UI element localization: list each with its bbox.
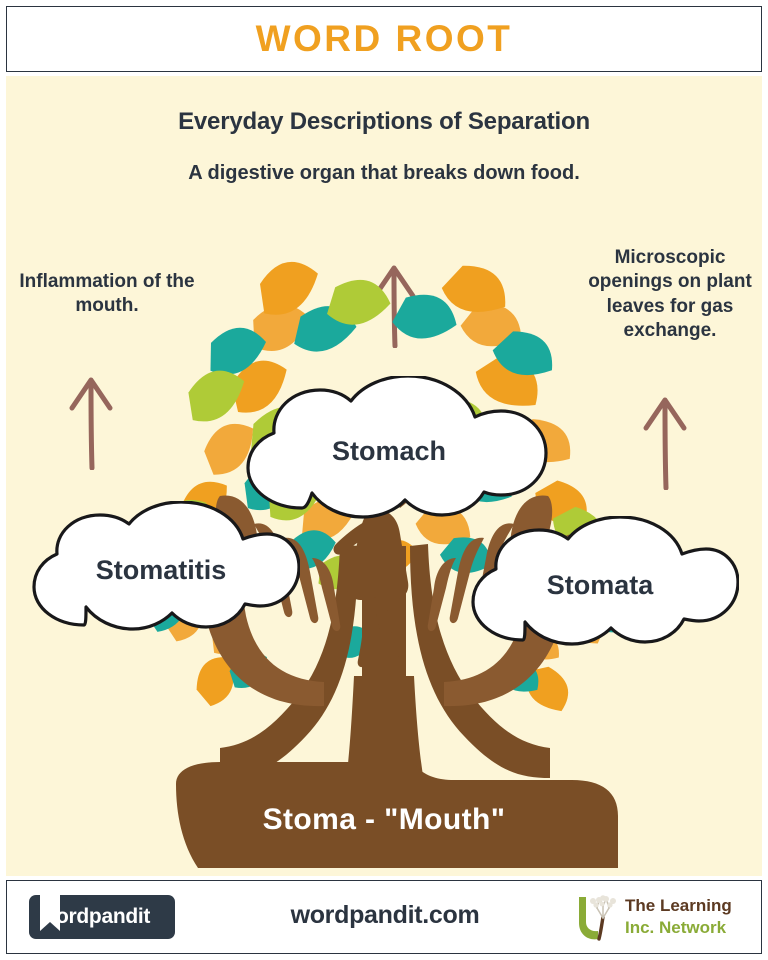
cloud-shape [22,501,300,635]
cloud-label-stomatitis[interactable]: Stomatitis [22,501,300,635]
partner-logo[interactable]: The Learning Inc. Network [571,893,745,943]
root-word-label: Stoma - "Mouth" [6,803,762,837]
header-band: WORD ROOT [6,6,762,72]
page-title: WORD ROOT [256,18,513,60]
partner-tree-icon [571,893,621,943]
cloud-shape [461,516,739,650]
cloud-label-stomach[interactable]: Stomach [230,376,548,520]
partner-name-line1: The Learning [625,896,732,916]
cloud-shape [230,376,548,520]
main-illustration-panel: Everyday Descriptions of Separation A di… [6,76,762,876]
cloud-label-stomata[interactable]: Stomata [461,516,739,650]
partner-name-line2: Inc. Network [625,918,726,938]
footer-band: ordpandit wordpandit.com [6,880,762,954]
infographic-root: WORD ROOT Everyday Descriptions of Separ… [0,0,768,960]
